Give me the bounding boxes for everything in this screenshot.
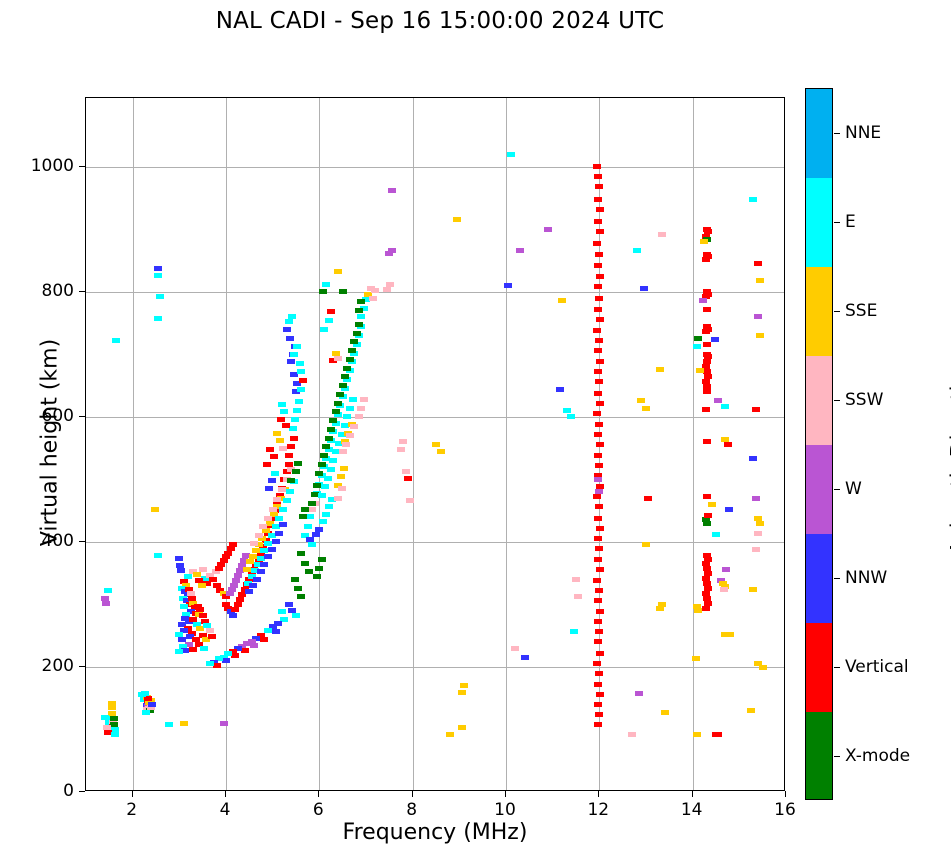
echo-marker xyxy=(699,298,707,303)
echo-marker xyxy=(320,453,328,458)
figure-title: NAL CADI - Sep 16 15:00:00 2024 UTC xyxy=(0,8,880,34)
echo-marker xyxy=(754,531,762,536)
echo-marker xyxy=(156,294,164,299)
echo-marker xyxy=(596,567,604,572)
echo-marker xyxy=(313,574,321,579)
echo-marker xyxy=(594,263,602,268)
echo-marker xyxy=(260,562,268,567)
echo-marker xyxy=(295,399,303,404)
echo-marker xyxy=(340,466,348,471)
echo-marker xyxy=(388,248,396,253)
echo-marker xyxy=(304,524,312,529)
x-axis-tick xyxy=(598,791,599,797)
echo-marker xyxy=(703,342,711,347)
echo-marker xyxy=(320,327,328,332)
echo-marker xyxy=(595,379,603,384)
echo-marker xyxy=(250,643,258,648)
y-axis-tick xyxy=(79,166,85,167)
echo-marker xyxy=(754,661,762,666)
echo-marker xyxy=(292,469,300,474)
echo-marker xyxy=(721,437,729,442)
echo-marker xyxy=(594,639,602,644)
echo-marker xyxy=(273,497,281,502)
echo-marker xyxy=(318,493,326,498)
echo-marker xyxy=(437,449,445,454)
echo-marker xyxy=(294,586,302,591)
echo-marker xyxy=(595,184,603,189)
echo-marker xyxy=(260,637,268,642)
echo-marker xyxy=(264,516,272,521)
echo-marker xyxy=(253,577,261,582)
echo-marker xyxy=(703,389,711,394)
x-tick-label: 14 xyxy=(681,800,703,820)
echo-marker xyxy=(315,471,323,476)
echo-marker xyxy=(594,174,602,179)
echo-marker xyxy=(593,241,601,246)
echo-marker xyxy=(574,594,582,599)
echo-marker xyxy=(196,607,204,612)
echo-marker xyxy=(268,478,276,483)
echo-marker xyxy=(353,331,361,336)
echo-marker xyxy=(213,663,221,668)
echo-marker xyxy=(285,319,293,324)
echo-marker xyxy=(319,519,327,524)
x-axis-tick xyxy=(132,791,133,797)
echo-marker xyxy=(288,314,296,319)
y-axis-label: Virtual height (km) xyxy=(38,93,63,793)
echo-marker xyxy=(290,436,298,441)
echo-marker xyxy=(102,601,110,606)
echo-marker xyxy=(306,537,314,542)
echo-marker xyxy=(383,287,391,292)
echo-marker xyxy=(249,583,257,588)
echo-marker xyxy=(255,533,263,538)
echo-marker xyxy=(594,516,602,521)
echo-marker xyxy=(754,261,762,266)
echo-marker xyxy=(200,646,208,651)
echo-marker xyxy=(756,278,764,283)
echo-marker xyxy=(595,338,603,343)
echo-marker xyxy=(148,702,156,707)
echo-marker xyxy=(399,439,407,444)
echo-marker xyxy=(339,383,347,388)
echo-marker xyxy=(594,536,602,541)
echo-marker xyxy=(595,671,603,676)
echo-marker xyxy=(278,402,286,407)
echo-marker xyxy=(355,308,363,313)
echo-marker xyxy=(348,348,356,353)
colorbar-segment-vertical xyxy=(806,623,832,713)
echo-marker xyxy=(596,401,604,406)
colorbar-tick xyxy=(834,400,840,401)
echo-marker xyxy=(594,598,602,603)
echo-marker xyxy=(702,606,710,611)
echo-marker xyxy=(749,587,757,592)
echo-marker xyxy=(595,252,603,257)
colorbar-segment-e xyxy=(806,178,832,268)
echo-marker xyxy=(279,446,287,451)
echo-marker xyxy=(593,494,601,499)
echo-marker xyxy=(291,417,299,422)
echo-marker xyxy=(694,608,702,613)
echo-marker xyxy=(280,409,288,414)
echo-marker xyxy=(371,288,379,293)
echo-marker xyxy=(397,447,405,452)
echo-marker xyxy=(165,722,173,727)
echo-marker xyxy=(229,613,237,618)
echo-marker xyxy=(315,527,323,532)
echo-marker xyxy=(702,407,710,412)
colorbar-segment-x-mode xyxy=(806,712,832,800)
echo-marker xyxy=(593,578,601,583)
echo-marker xyxy=(346,433,354,438)
echo-marker xyxy=(286,336,294,341)
echo-marker xyxy=(594,432,602,437)
echo-marker xyxy=(696,368,704,373)
x-axis-tick xyxy=(505,791,506,797)
echo-marker xyxy=(104,588,112,593)
echo-marker xyxy=(272,539,280,544)
echo-marker xyxy=(355,414,363,419)
colorbar-label-nnw: NNW xyxy=(845,568,887,588)
echo-marker xyxy=(206,628,214,633)
echo-marker xyxy=(544,227,552,232)
echo-marker xyxy=(355,322,363,327)
echo-marker xyxy=(369,296,377,301)
echo-marker xyxy=(504,283,512,288)
echo-marker xyxy=(357,314,365,319)
echo-marker xyxy=(563,408,571,413)
echo-marker xyxy=(360,397,368,402)
echo-marker xyxy=(596,651,604,656)
echo-marker xyxy=(321,484,329,489)
colorbar-tick xyxy=(834,133,840,134)
echo-marker xyxy=(720,587,728,592)
colorbar-tick xyxy=(834,756,840,757)
echo-marker xyxy=(628,732,636,737)
echo-marker xyxy=(595,712,603,717)
echo-marker xyxy=(700,239,708,244)
echo-marker xyxy=(329,418,337,423)
echo-marker xyxy=(308,542,316,547)
echo-marker xyxy=(594,284,602,289)
echo-marker xyxy=(275,531,283,536)
x-tick-label: 8 xyxy=(406,800,417,820)
echo-marker xyxy=(658,602,666,607)
echo-marker xyxy=(110,716,118,721)
echo-marker xyxy=(752,496,760,501)
echo-marker xyxy=(388,188,396,193)
echo-marker xyxy=(305,569,313,574)
echo-marker xyxy=(594,702,602,707)
echo-marker xyxy=(595,504,603,509)
echo-marker xyxy=(297,551,305,556)
echo-marker xyxy=(703,307,711,312)
echo-marker xyxy=(199,613,207,618)
echo-marker xyxy=(594,619,602,624)
echo-marker xyxy=(279,507,287,512)
echo-marker xyxy=(325,318,333,323)
x-tick-label: 2 xyxy=(126,800,137,820)
echo-marker xyxy=(220,721,228,726)
echo-marker xyxy=(293,344,301,349)
echo-marker xyxy=(596,692,604,697)
echo-marker xyxy=(595,422,603,427)
echo-marker xyxy=(299,514,307,519)
echo-marker xyxy=(180,721,188,726)
echo-marker xyxy=(594,307,602,312)
echo-marker xyxy=(231,607,239,612)
echo-marker xyxy=(111,732,119,737)
echo-marker xyxy=(521,655,529,660)
echo-marker xyxy=(556,387,564,392)
echo-marker xyxy=(282,423,290,428)
echo-marker xyxy=(286,489,294,494)
echo-marker xyxy=(703,439,711,444)
echo-marker xyxy=(275,516,283,521)
echo-marker xyxy=(269,507,277,512)
echo-marker xyxy=(692,656,700,661)
echo-marker xyxy=(747,708,755,713)
echo-marker xyxy=(596,609,604,614)
echo-marker xyxy=(593,328,601,333)
colorbar-segment-w xyxy=(806,445,832,535)
echo-marker xyxy=(277,417,285,422)
echo-marker xyxy=(322,282,330,287)
echo-marker xyxy=(558,298,566,303)
echo-marker xyxy=(595,489,603,494)
echo-marker xyxy=(694,336,702,341)
echo-marker xyxy=(322,444,330,449)
echo-marker xyxy=(404,476,412,481)
echo-marker xyxy=(189,647,197,652)
echo-marker xyxy=(633,248,641,253)
echo-marker xyxy=(349,397,357,402)
echo-marker xyxy=(287,478,295,483)
echo-marker xyxy=(357,406,365,411)
echo-marker xyxy=(595,463,603,468)
colorbar-tick xyxy=(834,667,840,668)
echo-marker xyxy=(313,483,321,488)
echo-marker xyxy=(726,632,734,637)
echo-marker xyxy=(270,454,278,459)
x-tick-label: 6 xyxy=(313,800,324,820)
echo-marker xyxy=(293,408,301,413)
echo-marker xyxy=(595,296,603,301)
echo-marker xyxy=(714,732,722,737)
echo-marker xyxy=(446,732,454,737)
x-axis-tick xyxy=(692,791,693,797)
echo-marker xyxy=(338,486,346,491)
echo-marker xyxy=(593,164,601,169)
echo-marker xyxy=(308,507,316,512)
ionogram-figure: NAL CADI - Sep 16 15:00:00 2024 UTC 0200… xyxy=(0,0,951,856)
echo-marker xyxy=(594,391,602,396)
colorbar-tick xyxy=(834,311,840,312)
echo-marker xyxy=(241,648,249,653)
echo-marker xyxy=(306,514,314,519)
echo-marker xyxy=(635,691,643,696)
echo-marker xyxy=(343,414,351,419)
echo-marker xyxy=(327,309,335,314)
echo-marker xyxy=(704,513,712,518)
echo-marker xyxy=(402,469,410,474)
echo-marker xyxy=(209,577,217,582)
colorbar-tick xyxy=(834,222,840,223)
echo-marker xyxy=(708,502,716,507)
echo-marker xyxy=(108,701,116,706)
echo-marker xyxy=(193,572,201,577)
echo-marker xyxy=(273,431,281,436)
colorbar-label-e: E xyxy=(845,212,856,232)
echo-marker xyxy=(332,409,340,414)
echo-marker xyxy=(229,542,237,547)
colorbar-segment-sse xyxy=(806,267,832,357)
echo-marker xyxy=(594,348,602,353)
echo-marker xyxy=(285,453,293,458)
echo-marker xyxy=(276,438,284,443)
echo-marker xyxy=(177,568,185,573)
colorbar-label: Azimuth Direction xyxy=(948,107,951,807)
echo-marker xyxy=(334,401,342,406)
echo-marker xyxy=(342,442,350,447)
echo-marker xyxy=(325,504,333,509)
echo-marker xyxy=(334,496,342,501)
echo-marker xyxy=(406,498,414,503)
echo-marker xyxy=(245,589,253,594)
echo-marker xyxy=(350,424,358,429)
echo-marker xyxy=(453,217,461,222)
echo-marker xyxy=(327,467,335,472)
echo-marker xyxy=(637,398,645,403)
echo-marker xyxy=(594,682,602,687)
echo-marker xyxy=(250,541,258,546)
echo-marker xyxy=(294,461,302,466)
echo-marker xyxy=(264,628,272,633)
echo-marker xyxy=(319,289,327,294)
echo-marker xyxy=(322,512,330,517)
x-tick-label: 10 xyxy=(494,800,516,820)
echo-marker xyxy=(290,352,298,357)
echo-marker xyxy=(432,442,440,447)
echo-marker xyxy=(594,219,602,224)
echo-marker xyxy=(283,498,291,503)
colorbar-tick xyxy=(834,489,840,490)
echo-marker xyxy=(257,569,265,574)
echo-marker xyxy=(325,436,333,441)
echo-marker xyxy=(101,715,109,720)
colorbar-tick xyxy=(834,578,840,579)
echo-marker xyxy=(511,646,519,651)
echo-marker xyxy=(308,501,316,506)
echo-marker xyxy=(252,548,260,553)
colorbar-label-vertical: Vertical xyxy=(845,657,909,677)
echo-marker xyxy=(297,594,305,599)
echo-marker xyxy=(596,274,604,279)
echo-marker xyxy=(594,453,602,458)
echo-marker xyxy=(658,232,666,237)
echo-marker xyxy=(301,561,309,566)
echo-marker xyxy=(264,554,272,559)
echo-marker xyxy=(138,692,146,697)
echo-marker xyxy=(656,367,664,372)
echo-marker xyxy=(702,257,710,262)
echo-marker xyxy=(572,577,580,582)
echo-marker xyxy=(341,374,349,379)
echo-marker xyxy=(693,732,701,737)
echo-marker xyxy=(142,710,150,715)
echo-marker xyxy=(596,317,604,322)
echo-marker xyxy=(752,407,760,412)
x-tick-label: 16 xyxy=(774,800,796,820)
x-axis-tick xyxy=(318,791,319,797)
echo-marker xyxy=(292,613,300,618)
echo-marker xyxy=(458,725,466,730)
echo-marker xyxy=(154,266,162,271)
echo-marker xyxy=(507,152,515,157)
x-tick-label: 4 xyxy=(220,800,231,820)
echo-marker xyxy=(278,487,286,492)
echo-marker xyxy=(336,392,344,397)
echo-marker xyxy=(339,449,347,454)
echo-marker xyxy=(151,507,159,512)
echo-marker xyxy=(714,398,722,403)
echo-marker xyxy=(297,369,305,374)
y-axis-tick xyxy=(79,416,85,417)
echo-marker xyxy=(756,521,764,526)
echo-marker xyxy=(703,494,711,499)
echo-marker xyxy=(460,683,468,688)
echo-marker xyxy=(596,359,604,364)
echo-marker xyxy=(642,406,650,411)
echo-marker xyxy=(154,316,162,321)
echo-marker xyxy=(702,329,710,334)
x-axis-tick xyxy=(412,791,413,797)
echo-marker xyxy=(595,588,603,593)
echo-marker xyxy=(236,597,244,602)
echo-marker xyxy=(594,369,602,374)
echo-marker xyxy=(661,710,669,715)
echo-marker xyxy=(234,573,242,578)
echo-marker xyxy=(346,357,354,362)
colorbar-segment-nnw xyxy=(806,534,832,624)
echo-marker xyxy=(315,566,323,571)
echo-marker xyxy=(291,577,299,582)
x-axis-tick xyxy=(785,791,786,797)
x-axis-label: Frequency (MHz) xyxy=(85,820,785,845)
colorbar-label-sse: SSE xyxy=(845,301,877,321)
echo-marker xyxy=(752,547,760,552)
echo-marker xyxy=(285,602,293,607)
echo-marker xyxy=(318,557,326,562)
azimuth-colorbar xyxy=(805,88,833,800)
colorbar-label-nne: NNE xyxy=(845,123,881,143)
echo-marker xyxy=(593,661,601,666)
echo-marker xyxy=(642,542,650,547)
echo-marker xyxy=(595,629,603,634)
echo-marker xyxy=(570,629,578,634)
echo-marker xyxy=(754,314,762,319)
echo-marker xyxy=(299,378,307,383)
echo-marker xyxy=(594,722,602,727)
echo-marker xyxy=(756,333,764,338)
echo-marker xyxy=(640,286,648,291)
echo-marker xyxy=(594,197,602,202)
colorbar-label-ssw: SSW xyxy=(845,390,883,410)
echo-marker xyxy=(644,496,652,501)
echo-marker xyxy=(222,658,230,663)
echo-marker xyxy=(265,486,273,491)
